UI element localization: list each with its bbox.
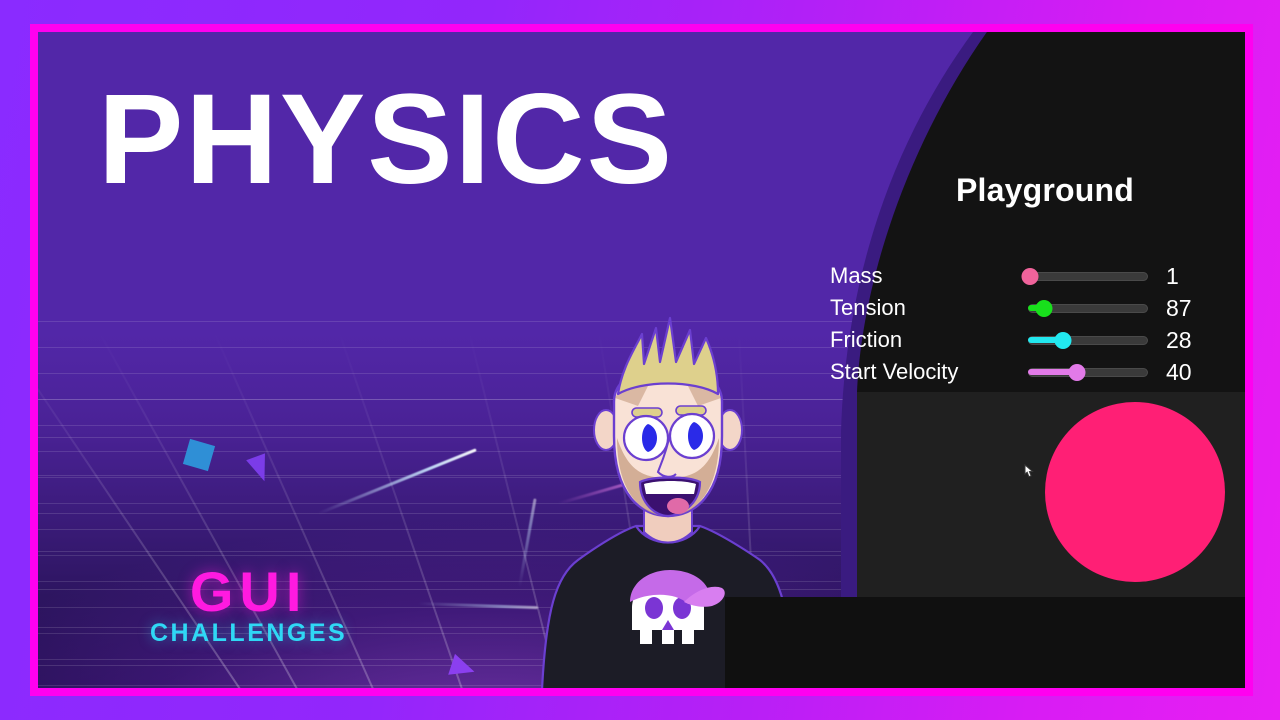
panel-heading: Playground — [725, 172, 1245, 209]
slider-thumb[interactable] — [1054, 332, 1071, 349]
control-value-mass: 1 — [1166, 263, 1210, 290]
slider-thumb[interactable] — [1035, 300, 1052, 317]
control-row-mass: Mass 1 — [830, 260, 1245, 292]
controls-list: Mass 1 Tension 87 — [830, 260, 1245, 388]
control-row-start-velocity: Start Velocity 40 — [830, 356, 1245, 388]
logo-primary-text: GUI — [150, 566, 347, 618]
control-value-tension: 87 — [1166, 295, 1210, 322]
logo-secondary-text: CHALLENGES — [150, 621, 347, 646]
control-label-friction: Friction — [830, 327, 1028, 353]
control-value-start-velocity: 40 — [1166, 359, 1210, 386]
slider-mass[interactable] — [1028, 265, 1148, 287]
gui-challenges-logo: GUI CHALLENGES — [150, 566, 347, 646]
mouse-cursor — [1022, 463, 1038, 483]
slider-start-velocity[interactable] — [1028, 361, 1148, 383]
slider-tension[interactable] — [1028, 297, 1148, 319]
video-frame: PHYSICS GUI CHALLENGES — [0, 0, 1280, 720]
control-label-start-velocity: Start Velocity — [830, 359, 1028, 385]
control-label-mass: Mass — [830, 263, 1028, 289]
slider-track[interactable] — [1028, 272, 1148, 281]
control-row-tension: Tension 87 — [830, 292, 1245, 324]
physics-ball[interactable] — [1045, 402, 1225, 582]
slider-friction[interactable] — [1028, 329, 1148, 351]
page-title: PHYSICS — [98, 76, 674, 204]
slider-thumb[interactable] — [1069, 364, 1086, 381]
slider-thumb[interactable] — [1022, 268, 1039, 285]
playground-panel: Playground Mass 1 Tension — [725, 32, 1245, 688]
control-value-friction: 28 — [1166, 327, 1210, 354]
control-label-tension: Tension — [830, 295, 1028, 321]
control-row-friction: Friction 28 — [830, 324, 1245, 356]
panel-footer — [725, 597, 1245, 688]
content-area: PHYSICS GUI CHALLENGES — [38, 32, 1245, 688]
